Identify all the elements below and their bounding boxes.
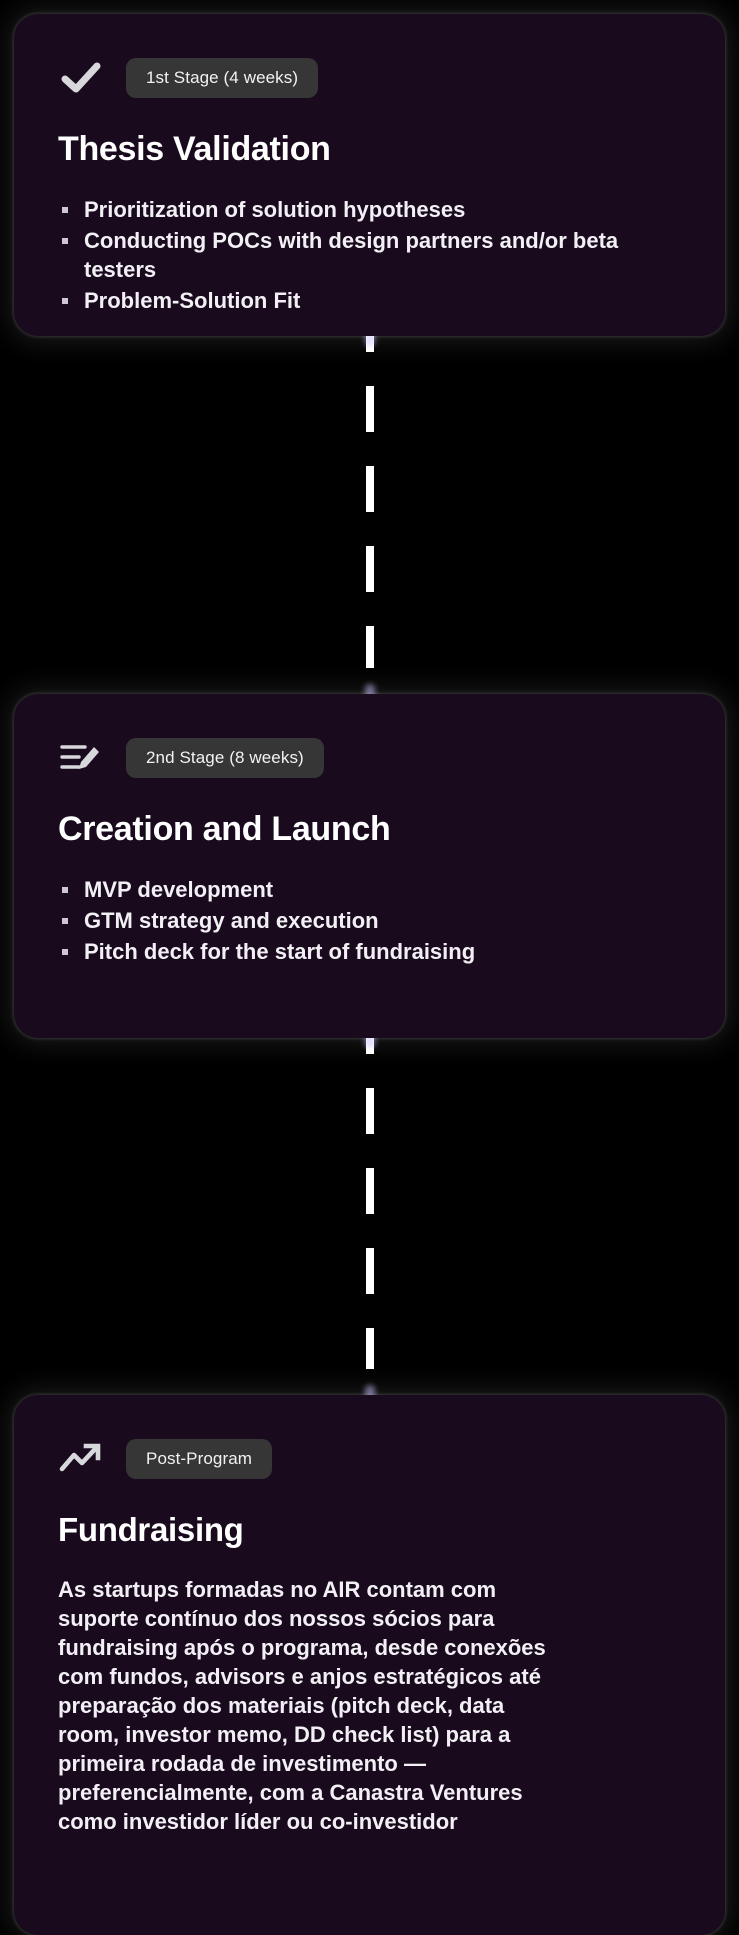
check-icon (58, 58, 104, 98)
stage-card-creation-and-launch[interactable]: 2nd Stage (8 weeks) Creation and Launch … (14, 694, 725, 1038)
stage-card-fundraising[interactable]: Post-Program Fundraising As startups for… (14, 1395, 725, 1935)
stage-bullet-list: MVP development GTM strategy and executi… (58, 875, 681, 966)
list-item: MVP development (58, 875, 681, 904)
stage-card-header: 2nd Stage (8 weeks) (58, 738, 681, 778)
stage-title: Fundraising (58, 1511, 681, 1549)
stage-card-header: 1st Stage (4 weeks) (58, 58, 681, 98)
list-item: Prioritization of solution hypotheses (58, 195, 681, 224)
list-item: Conducting POCs with design partners and… (58, 226, 681, 284)
stage-badge[interactable]: 1st Stage (4 weeks) (126, 58, 318, 98)
list-edit-icon (58, 738, 104, 778)
connector-stage2-stage3 (14, 1038, 725, 1396)
stage-description: As startups formadas no AIR contam com s… (58, 1575, 558, 1836)
stage-title: Thesis Validation (58, 130, 681, 169)
stage-badge[interactable]: Post-Program (126, 1439, 272, 1479)
connector-stage1-stage2 (14, 336, 725, 694)
list-item: Pitch deck for the start of fundraising (58, 937, 681, 966)
dashed-line (366, 1012, 374, 1370)
list-item: Problem-Solution Fit (58, 286, 681, 315)
trending-up-icon (58, 1439, 104, 1479)
list-item: GTM strategy and execution (58, 906, 681, 935)
stage-card-header: Post-Program (58, 1439, 681, 1479)
stage-title: Creation and Launch (58, 810, 681, 849)
stage-bullet-list: Prioritization of solution hypotheses Co… (58, 195, 681, 315)
stage-badge[interactable]: 2nd Stage (8 weeks) (126, 738, 324, 778)
program-timeline: 1st Stage (4 weeks) Thesis Validation Pr… (0, 0, 739, 1935)
dashed-line (366, 310, 374, 668)
stage-card-thesis-validation[interactable]: 1st Stage (4 weeks) Thesis Validation Pr… (14, 14, 725, 336)
